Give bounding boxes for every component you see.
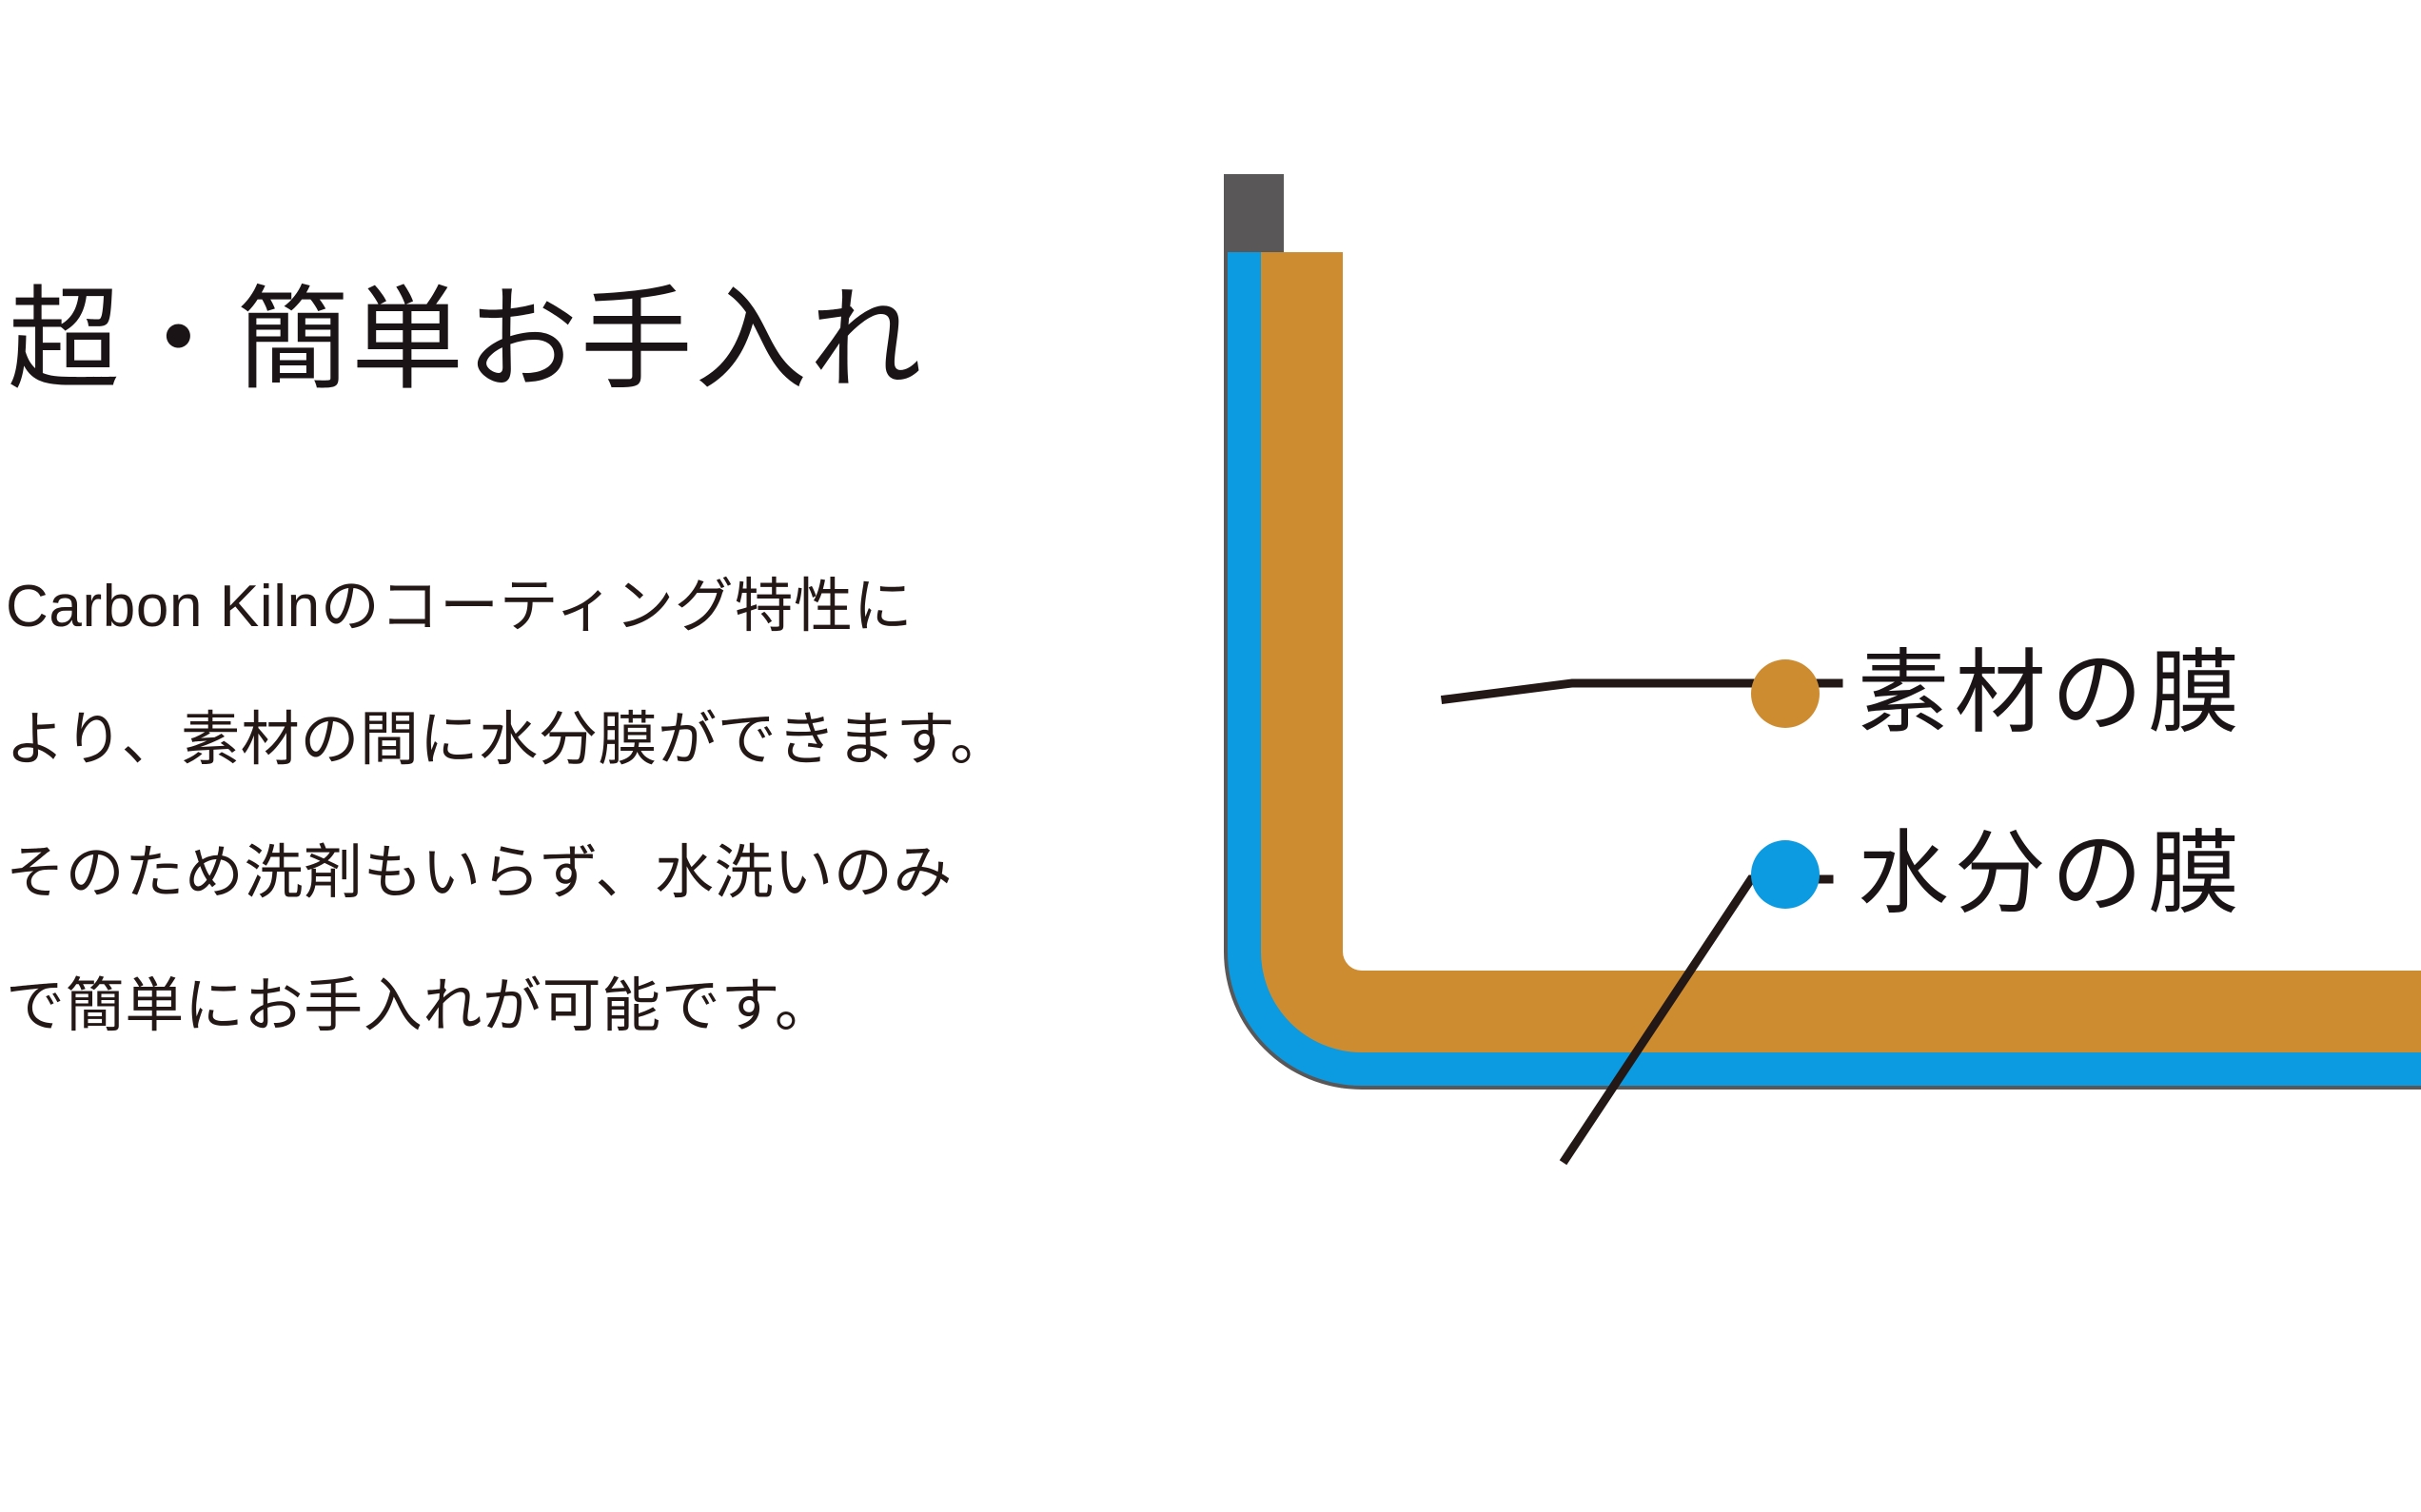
legend-item-moisture-film: 水分の膜 xyxy=(1751,784,2417,965)
legend: 素材の膜 水分の膜 xyxy=(1751,603,2417,965)
body-line-1: Carbon Kilnのコーティング特性に xyxy=(6,540,1110,674)
page-title: 超・簡単お手入れ xyxy=(8,285,924,398)
body-line-2: より、素材の間に水分膜ができます。 xyxy=(6,674,1110,807)
body-line-4: で簡単にお手入れが可能です。 xyxy=(6,940,1110,1073)
text-panel: 超・簡単お手入れ Carbon Kilnのコーティング特性に より、素材の間に水… xyxy=(0,0,1123,1512)
legend-label-moisture-film: 水分の膜 xyxy=(1858,829,2245,920)
legend-item-material-film: 素材の膜 xyxy=(1751,603,2417,784)
legend-label-material-film: 素材の膜 xyxy=(1858,648,2245,739)
body-copy: Carbon Kilnのコーティング特性に より、素材の間に水分膜ができます。 … xyxy=(6,540,1110,1073)
infographic-canvas: 超・簡単お手入れ Carbon Kilnのコーティング特性に より、素材の間に水… xyxy=(0,0,2421,1512)
legend-dot-material-film xyxy=(1751,659,1820,728)
body-line-3: そのため洗剤もいらず、水洗いのみ xyxy=(6,807,1110,940)
legend-dot-moisture-film xyxy=(1751,840,1820,909)
